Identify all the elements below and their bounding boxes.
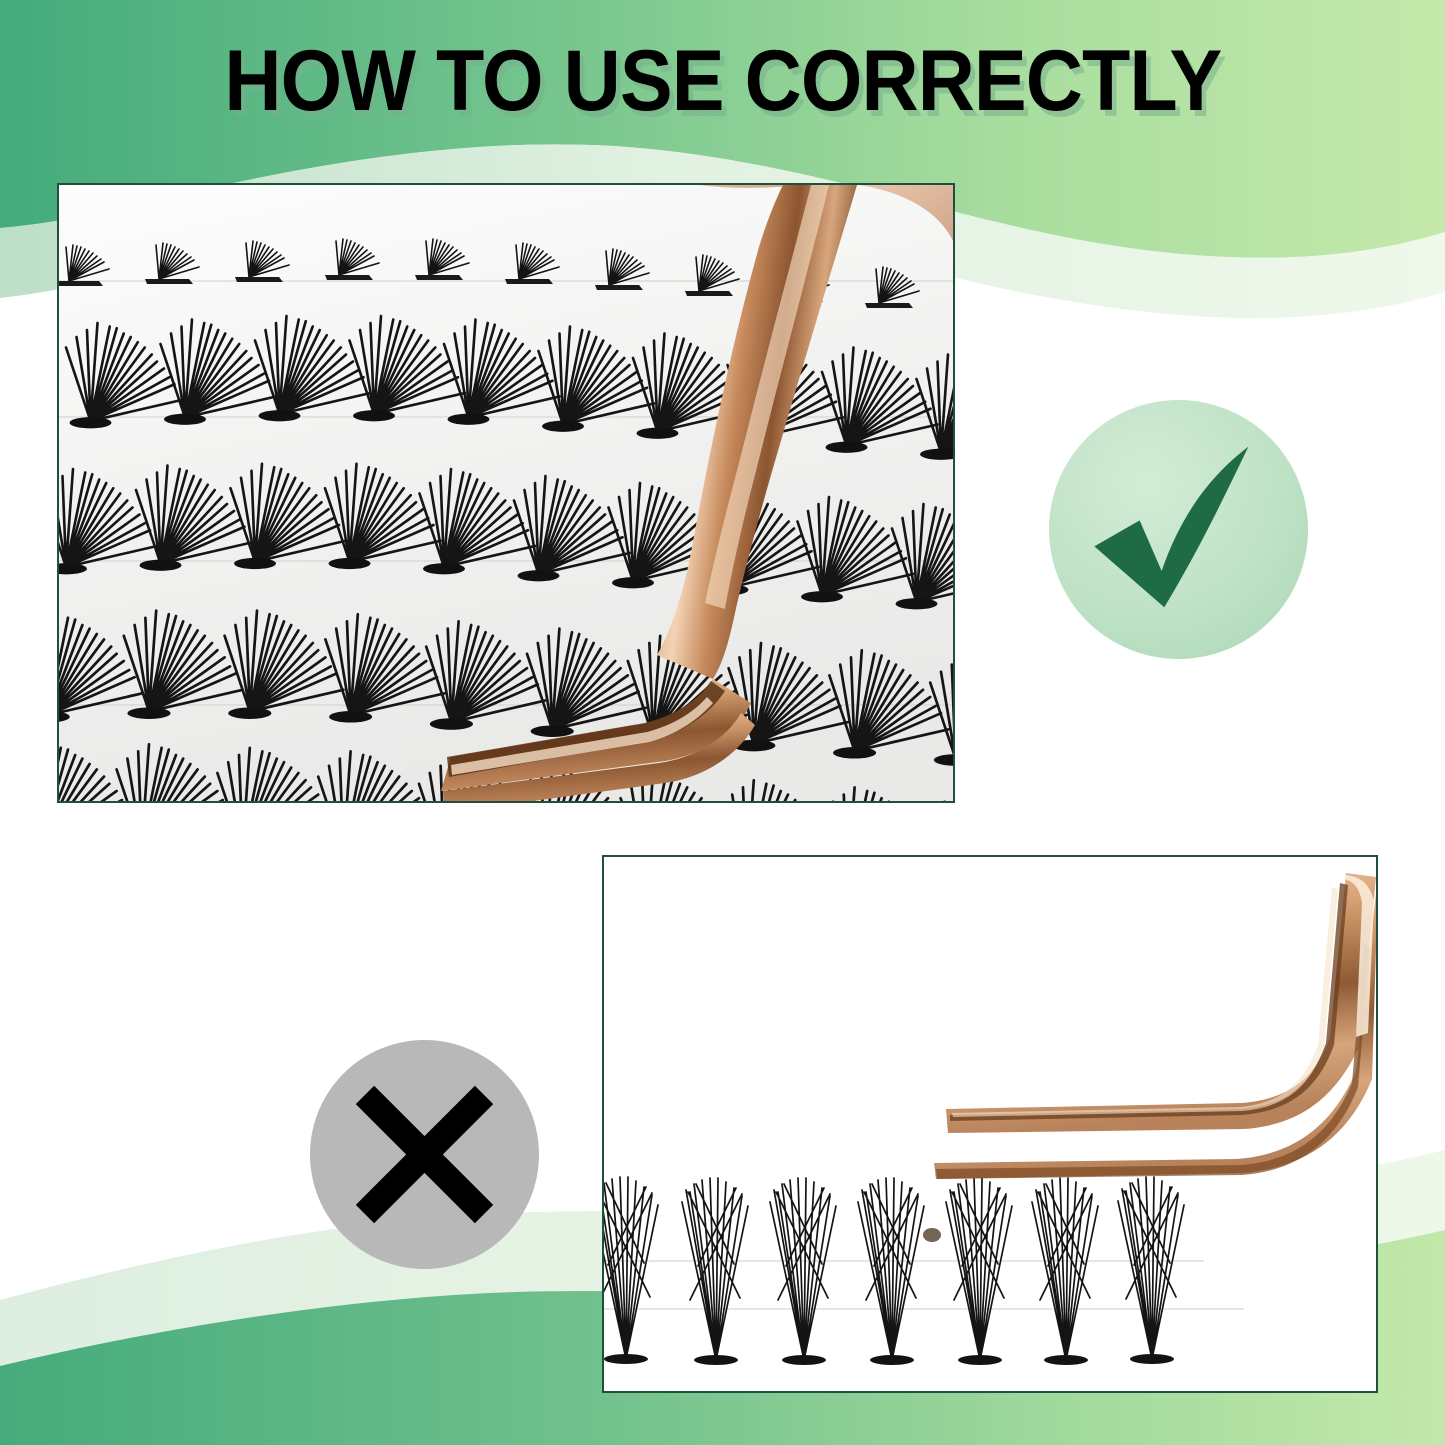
check-badge xyxy=(1049,400,1308,659)
cross-badge xyxy=(310,1040,539,1269)
debris-speck xyxy=(923,1228,941,1242)
panel-incorrect-photo xyxy=(602,855,1378,1393)
lash-tray-closeup-illustration xyxy=(59,185,953,801)
lash-side-view-illustration xyxy=(604,857,1376,1391)
panel-correct-photo xyxy=(57,183,955,803)
photo-incorrect-content xyxy=(604,857,1376,1391)
page-title: HOW TO USE CORRECTLY xyxy=(224,38,1221,124)
photo-correct-content xyxy=(59,185,953,801)
checkmark-icon xyxy=(1049,400,1308,659)
infographic-canvas: HOW TO USE CORRECTLY xyxy=(0,0,1445,1445)
cross-icon xyxy=(310,1040,539,1269)
page-title-wrap: HOW TO USE CORRECTLY xyxy=(0,38,1445,124)
